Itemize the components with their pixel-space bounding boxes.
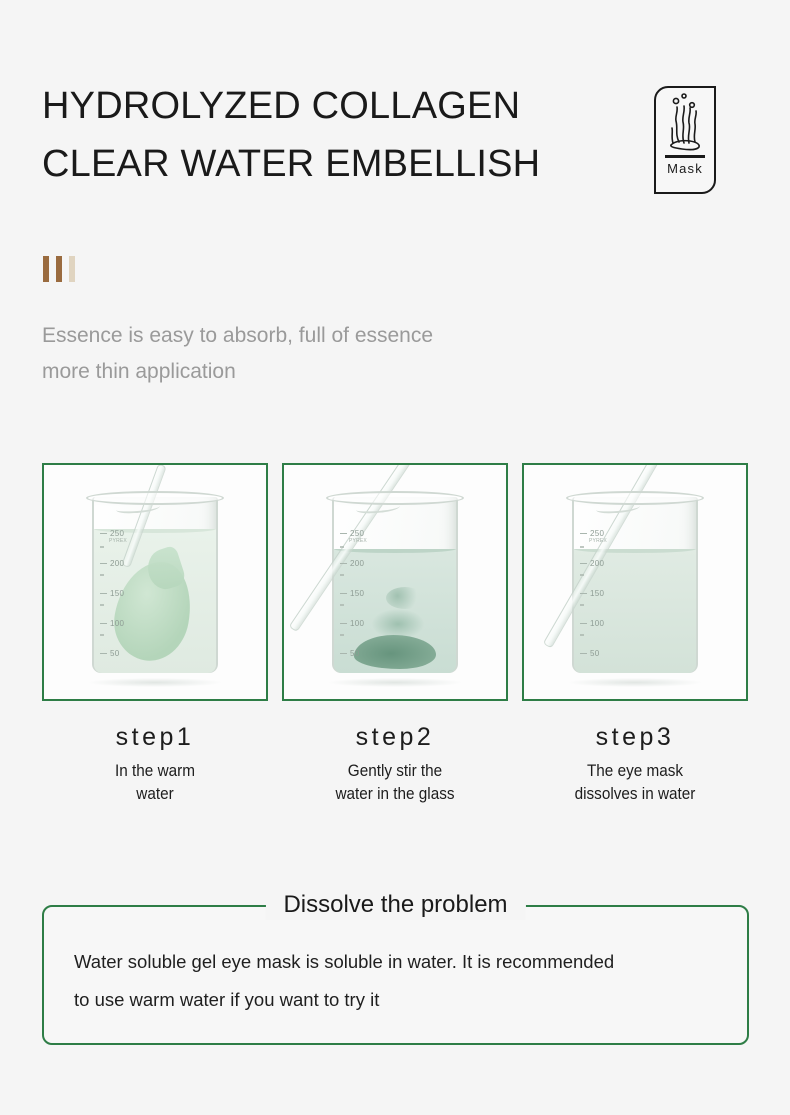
gel-particles — [386, 587, 424, 609]
badge-divider — [665, 155, 705, 158]
step-description-3: The eye mask dissolves in water — [533, 760, 736, 805]
tick-label: 250 — [590, 529, 604, 538]
step-image-3: 250 PYREX 200 150 — [522, 463, 748, 701]
tick-mark — [580, 533, 587, 535]
tick-label: 50 — [590, 649, 600, 658]
step-column-3: 250 PYREX 200 150 — [522, 463, 748, 805]
step-desc-line-1: Gently stir the — [293, 760, 496, 783]
step-label-1: step1 — [42, 723, 268, 752]
tick-mark — [340, 623, 347, 625]
tick-mark — [340, 533, 347, 535]
step-image-1: 250 PYREX 200 150 — [42, 463, 268, 701]
step-desc-line-1: In the warm — [53, 760, 256, 783]
step-column-1: 250 PYREX 200 150 — [42, 463, 268, 805]
step-desc-line-2: water — [53, 783, 256, 806]
beaker-2: 250 PYREX 200 150 — [326, 483, 464, 679]
beaker-graduations: 250 PYREX 200 150 — [580, 529, 626, 669]
tick-label: 50 — [110, 649, 120, 658]
accent-bar-2 — [56, 256, 62, 282]
beaker-brand: PYREX — [109, 538, 127, 544]
beaker-1: 250 PYREX 200 150 — [86, 483, 224, 679]
subtitle-line-1: Essence is easy to absorb, full of essen… — [42, 318, 662, 354]
note-line-1: Water soluble gel eye mask is soluble in… — [74, 943, 721, 981]
tick-label: 150 — [350, 589, 364, 598]
beaker-3: 250 PYREX 200 150 — [566, 483, 704, 679]
tick-mark — [340, 653, 347, 655]
tick-label: 150 — [590, 589, 604, 598]
accent-bars — [43, 256, 75, 282]
note-body: Water soluble gel eye mask is soluble in… — [74, 943, 721, 1019]
beaker-scene-2: 250 PYREX 200 150 — [284, 465, 506, 699]
tick-label: 250 — [110, 529, 124, 538]
beaker-graduations: 250 PYREX 200 150 — [340, 529, 386, 669]
tick-mark — [100, 563, 107, 565]
subtitle-line-2: more thin application — [42, 354, 662, 390]
subtitle: Essence is easy to absorb, full of essen… — [42, 318, 662, 390]
beaker-shadow — [89, 678, 221, 687]
beaker-scene-3: 250 PYREX 200 150 — [524, 465, 746, 699]
tick-mark — [100, 623, 107, 625]
tick-mark — [100, 533, 107, 535]
mask-badge: Mask — [654, 86, 716, 194]
tick-mark — [340, 593, 347, 595]
note-heading: Dissolve the problem — [283, 891, 507, 919]
step-column-2: 250 PYREX 200 150 — [282, 463, 508, 805]
tick-mark — [580, 653, 587, 655]
step-desc-line-1: The eye mask — [533, 760, 736, 783]
step-image-2: 250 PYREX 200 150 — [282, 463, 508, 701]
accent-bar-3 — [69, 256, 75, 282]
beaker-graduations: 250 PYREX 200 150 — [100, 529, 146, 669]
header: HYDROLYZED COLLAGEN CLEAR WATER EMBELLIS… — [42, 78, 748, 203]
tick-mark — [580, 593, 587, 595]
note-line-2: to use warm water if you want to try it — [74, 981, 721, 1019]
tick-label: 50 — [350, 649, 360, 658]
tick-label: 200 — [350, 559, 364, 568]
step-desc-line-2: dissolves in water — [533, 783, 736, 806]
seaweed-icon — [659, 92, 711, 154]
tick-label: 200 — [590, 559, 604, 568]
dissolve-note-panel: Dissolve the problem Water soluble gel e… — [42, 905, 749, 1045]
tick-mark — [340, 563, 347, 565]
step-label-2: step2 — [282, 723, 508, 752]
tick-mark — [580, 563, 587, 565]
tick-label: 100 — [110, 619, 124, 628]
note-heading-wrap: Dissolve the problem — [265, 890, 525, 920]
beaker-brand: PYREX — [349, 538, 367, 544]
tick-label: 150 — [110, 589, 124, 598]
beaker-shadow — [569, 678, 701, 687]
beaker-scene-1: 250 PYREX 200 150 — [44, 465, 266, 699]
title-line-1: HYDROLYZED COLLAGEN — [42, 78, 748, 136]
tick-label: 250 — [350, 529, 364, 538]
title-line-2: CLEAR WATER EMBELLISH — [42, 136, 748, 194]
steps-row: 250 PYREX 200 150 — [42, 463, 749, 805]
beaker-brand: PYREX — [589, 538, 607, 544]
tick-mark — [100, 593, 107, 595]
badge-label: Mask — [667, 161, 703, 176]
tick-label: 100 — [350, 619, 364, 628]
tick-mark — [100, 653, 107, 655]
tick-label: 100 — [590, 619, 604, 628]
step-desc-line-2: water in the glass — [293, 783, 496, 806]
step-description-2: Gently stir the water in the glass — [293, 760, 496, 805]
tick-label: 200 — [110, 559, 124, 568]
beaker-shadow — [329, 678, 461, 687]
accent-bar-1 — [43, 256, 49, 282]
step-label-3: step3 — [522, 723, 748, 752]
page-title: HYDROLYZED COLLAGEN CLEAR WATER EMBELLIS… — [42, 78, 748, 194]
tick-mark — [580, 623, 587, 625]
step-description-1: In the warm water — [53, 760, 256, 805]
